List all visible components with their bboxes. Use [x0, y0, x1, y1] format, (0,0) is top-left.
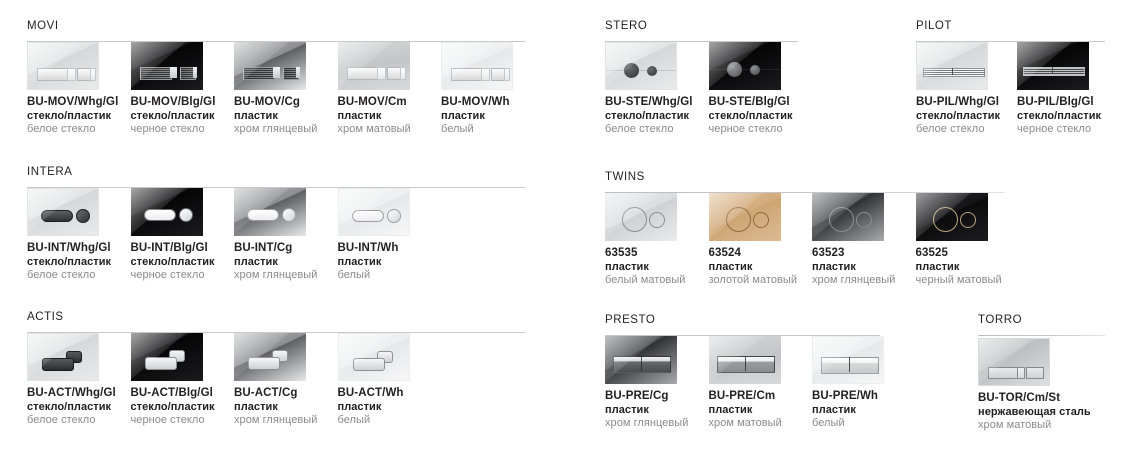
product-finish: черное стекло [131, 414, 234, 428]
product-finish: белое стекло [27, 269, 130, 283]
section-header-movi: MOVI [27, 20, 527, 42]
product-caption: BU-PRE/Cg пластик хром глянцевый [605, 390, 708, 431]
wide-key-icon [821, 357, 879, 374]
product-caption: BU-PRE/Wh пластик белый [812, 390, 915, 431]
product-code: BU-STE/Whg/Gl [605, 96, 708, 110]
key-small-icon [1026, 367, 1044, 379]
key-large-icon [145, 357, 177, 370]
product-material: пластик [605, 404, 708, 418]
product-item[interactable]: BU-PIL/Whg/Gl стекло/пластик белое стекл… [916, 42, 1019, 137]
product-finish: черное стекло [1017, 123, 1120, 137]
round-key-icon [282, 208, 296, 222]
product-finish: белое стекло [916, 123, 1019, 137]
gloss-overlay-icon [338, 42, 410, 90]
product-material: пластик [234, 110, 337, 124]
product-finish: белый [812, 417, 915, 431]
product-finish: хром матовый [338, 123, 441, 137]
pill-key-icon [144, 209, 176, 221]
gloss-overlay-icon [339, 334, 409, 380]
product-material: стекло/пластик [131, 110, 234, 124]
product-finish: хром матовый [709, 417, 812, 431]
key-split-icon [641, 356, 642, 371]
product-thumbnail-twins-gold-matt[interactable] [709, 193, 781, 241]
gloss-overlay-icon [709, 42, 781, 90]
product-item[interactable]: BU-TOR/Cm/St нержавеющая сталь хром мато… [978, 338, 1106, 433]
ring-small-icon [649, 212, 665, 228]
product-material: пластик [338, 256, 441, 270]
key-divider2-icon [400, 67, 406, 80]
product-thumbnail-pilot-white-glass[interactable] [916, 42, 988, 90]
wide-key-icon [717, 356, 775, 373]
key-divider-icon [481, 68, 490, 81]
section-header-presto: PRESTO [605, 314, 882, 336]
gloss-overlay-icon [234, 42, 306, 90]
product-finish: черное стекло [709, 123, 812, 137]
key-split-icon [745, 356, 746, 371]
product-finish: белый матовый [605, 274, 708, 288]
section-stero: STERO BU-STE/Whg/Gl стекло/пластик белое… [605, 20, 800, 42]
gloss-overlay-icon [442, 43, 512, 89]
product-material: пластик [605, 261, 708, 275]
product-finish: хром глянцевый [234, 123, 337, 137]
product-code: BU-ACT/Whg/Gl [27, 387, 130, 401]
section-header-stero: STERO [605, 20, 800, 42]
round-key-icon [387, 209, 401, 223]
product-caption: BU-ACT/Wh пластик белый [338, 387, 441, 428]
key-divider2-icon [193, 67, 197, 78]
product-item[interactable]: BU-STE/Blg/Gl стекло/пластик черное стек… [709, 42, 812, 137]
key-divider-icon [1017, 367, 1025, 379]
product-thumbnail-stero-black-glass[interactable] [709, 42, 781, 90]
product-item[interactable]: BU-PRE/Cm пластик хром матовый [709, 336, 812, 431]
product-code: BU-MOV/Whg/Gl [27, 96, 130, 110]
product-caption: BU-MOV/Cm пластик хром матовый [338, 96, 441, 137]
section-title-intera: INTERA [27, 166, 527, 179]
product-thumbnail-movi-white-glass[interactable] [27, 42, 99, 90]
product-code: BU-INT/Wh [338, 242, 441, 256]
product-caption: BU-STE/Whg/Gl стекло/пластик белое стекл… [605, 96, 708, 137]
product-code: BU-ACT/Cg [234, 387, 337, 401]
product-material: пластик [338, 401, 441, 415]
section-movi: MOVI BU-MOV/Whg/Gl стекло/пластик белое … [27, 20, 527, 42]
key-split-icon [849, 357, 850, 372]
section-title-torro: TORRO [978, 314, 1106, 327]
product-item[interactable]: BU-PRE/Cg пластик хром глянцевый [605, 336, 708, 431]
product-material: пластик [234, 256, 337, 270]
product-caption: BU-INT/Wh пластик белый [338, 242, 441, 283]
product-caption: BU-MOV/Cg пластик хром глянцевый [234, 96, 337, 137]
section-actis: ACTIS BU-ACT/Whg/Gl стекло/пластик белое… [27, 311, 527, 333]
product-material: пластик [812, 404, 915, 418]
product-caption: BU-TOR/Cm/St нержавеющая сталь хром мато… [978, 392, 1106, 433]
key-divider-icon [273, 67, 280, 78]
product-finish: хром глянцевый [812, 274, 915, 288]
ribbed-bar-icon [923, 68, 985, 77]
key-split-icon [952, 68, 953, 75]
section-rule-torro [978, 335, 1105, 336]
product-caption: BU-PRE/Cm пластик хром матовый [709, 390, 812, 431]
round-key-icon [76, 209, 90, 223]
product-thumbnail-twins-chrome-gloss[interactable] [812, 193, 884, 241]
product-finish: белое стекло [605, 123, 708, 137]
product-code: BU-PRE/Cm [709, 390, 812, 404]
product-code: BU-TOR/Cm/St [978, 392, 1106, 406]
round-key-large-icon [727, 62, 742, 77]
product-item[interactable]: BU-ACT/Whg/Gl стекло/пластик белое стекл… [27, 333, 130, 428]
product-caption: BU-INT/Whg/Gl стекло/пластик белое стекл… [27, 242, 130, 283]
key-divider-icon [170, 67, 177, 78]
product-thumbnail-actis-white[interactable] [338, 333, 410, 381]
product-material: пластик [916, 261, 1019, 275]
key-large-icon [243, 67, 275, 80]
key-large-icon [353, 358, 385, 371]
product-material: нержавеющая сталь [978, 406, 1106, 420]
product-finish: хром глянцевый [605, 417, 708, 431]
product-material: стекло/пластик [27, 401, 130, 415]
key-divider2-icon [504, 68, 510, 81]
product-caption: BU-MOV/Wh пластик белый [441, 96, 544, 137]
product-code: 63525 [916, 247, 1019, 261]
product-caption: BU-STE/Blg/Gl стекло/пластик черное стек… [709, 96, 812, 137]
ring-small-icon [856, 212, 872, 228]
product-code: BU-MOV/Blg/Gl [131, 96, 234, 110]
product-item[interactable]: BU-INT/Blg/Gl стекло/пластик черное стек… [131, 188, 234, 283]
wide-key-icon [613, 356, 671, 373]
product-item[interactable]: BU-PIL/Blg/Gl стекло/пластик черное стек… [1017, 42, 1120, 137]
product-item[interactable]: 63523 пластик хром глянцевый [812, 193, 915, 288]
product-code: BU-INT/Whg/Gl [27, 242, 130, 256]
product-material: пластик [234, 401, 337, 415]
product-thumbnail-intera-white-glass[interactable] [27, 188, 99, 236]
product-code: BU-INT/Cg [234, 242, 337, 256]
product-caption: 63525 пластик черный матовый [916, 247, 1019, 288]
product-caption: BU-MOV/Whg/Gl стекло/пластик белое стекл… [27, 96, 130, 137]
product-caption: 63523 пластик хром глянцевый [812, 247, 915, 288]
key-large-icon [248, 357, 280, 370]
product-finish: черное стекло [131, 123, 234, 137]
product-finish: белое стекло [27, 414, 130, 428]
product-item[interactable]: BU-STE/Whg/Gl стекло/пластик белое стекл… [605, 42, 708, 137]
product-code: BU-PRE/Cg [605, 390, 708, 404]
product-caption: BU-INT/Cg пластик хром глянцевый [234, 242, 337, 283]
product-thumbnail-actis-black-glass[interactable] [131, 333, 203, 381]
product-code: 63524 [709, 247, 812, 261]
product-material: пластик [812, 261, 915, 275]
section-title-stero: STERO [605, 20, 800, 33]
product-code: BU-MOV/Cg [234, 96, 337, 110]
seam-line-icon [709, 69, 781, 70]
key-large-icon [451, 68, 483, 81]
ribbed-bar-icon [1023, 67, 1085, 76]
product-material: пластик [441, 110, 544, 124]
product-thumbnail-intera-white[interactable] [338, 188, 410, 236]
key-divider-icon [67, 68, 76, 81]
product-caption: BU-ACT/Whg/Gl стекло/пластик белое стекл… [27, 387, 130, 428]
section-title-twins: TWINS [605, 171, 1007, 184]
product-item[interactable]: BU-INT/Cg пластик хром глянцевый [234, 188, 337, 283]
section-title-actis: ACTIS [27, 311, 527, 324]
ring-large-icon [622, 207, 647, 232]
gloss-overlay-icon [1017, 42, 1089, 90]
product-thumbnail-movi-chrome-matt[interactable] [338, 42, 410, 90]
product-material: стекло/пластик [27, 110, 130, 124]
section-header-pilot: PILOT [916, 20, 1106, 42]
product-code: BU-PRE/Wh [812, 390, 915, 404]
ring-large-icon [829, 207, 854, 232]
product-caption: BU-PIL/Blg/Gl стекло/пластик черное стек… [1017, 96, 1120, 137]
product-finish: белое стекло [27, 123, 130, 137]
product-code: BU-ACT/Blg/Gl [131, 387, 234, 401]
product-caption: BU-ACT/Cg пластик хром глянцевый [234, 387, 337, 428]
product-caption: BU-PIL/Whg/Gl стекло/пластик белое стекл… [916, 96, 1019, 137]
section-pilot: PILOT BU-PIL/Whg/Gl стекло/пластик белое… [916, 20, 1106, 42]
product-thumbnail-torro-stainless[interactable] [978, 338, 1050, 386]
product-finish: белый [441, 123, 544, 137]
product-caption: BU-INT/Blg/Gl стекло/пластик черное стек… [131, 242, 234, 283]
section-presto: PRESTO BU-PRE/Cg пластик хром глянцевый [605, 314, 882, 336]
product-thumbnail-presto-white[interactable] [812, 336, 884, 384]
product-code: BU-PIL/Whg/Gl [916, 96, 1019, 110]
round-key-small-icon [647, 66, 657, 76]
product-finish: черный матовый [916, 274, 1019, 288]
product-item[interactable]: BU-MOV/Whg/Gl стекло/пластик белое стекл… [27, 42, 130, 137]
product-finish: черное стекло [131, 269, 234, 283]
product-code: BU-STE/Blg/Gl [709, 96, 812, 110]
product-item[interactable]: BU-ACT/Blg/Gl стекло/пластик черное стек… [131, 333, 234, 428]
section-header-twins: TWINS [605, 171, 1007, 193]
product-thumbnail-intera-chrome-gloss[interactable] [234, 188, 306, 236]
product-thumbnail-movi-white[interactable] [441, 42, 513, 90]
product-code: BU-INT/Blg/Gl [131, 242, 234, 256]
round-key-large-icon [624, 63, 639, 78]
product-finish: хром глянцевый [234, 269, 337, 283]
product-material: стекло/пластик [605, 110, 708, 124]
product-thumbnail-pilot-black-glass[interactable] [1017, 42, 1089, 90]
product-thumbnail-presto-chrome-matt[interactable] [709, 336, 781, 384]
product-material: стекло/пластик [1017, 110, 1120, 124]
product-finish: хром глянцевый [234, 414, 337, 428]
product-thumbnail-movi-black-glass[interactable] [131, 42, 203, 90]
ring-large-icon [933, 207, 958, 232]
section-header-actis: ACTIS [27, 311, 527, 333]
product-material: стекло/пластик [27, 256, 130, 270]
product-code: 63523 [812, 247, 915, 261]
section-header-intera: INTERA [27, 166, 527, 188]
product-finish: золотой матовый [709, 274, 812, 288]
pill-key-icon [352, 210, 384, 222]
gloss-overlay-icon [606, 43, 676, 89]
product-thumbnail-actis-white-glass[interactable] [27, 333, 99, 381]
round-key-small-icon [750, 65, 760, 75]
product-item[interactable]: 63524 пластик золотой матовый [709, 193, 812, 288]
product-thumbnail-presto-chrome-gloss[interactable] [605, 336, 677, 384]
ring-small-icon [960, 212, 976, 228]
product-code: BU-MOV/Cm [338, 96, 441, 110]
key-divider2-icon [296, 67, 300, 78]
product-thumbnail-stero-white-glass[interactable] [605, 42, 677, 90]
key-split-icon [1052, 67, 1053, 74]
product-material: пластик [338, 110, 441, 124]
gloss-overlay-icon [28, 43, 98, 89]
section-header-torro: TORRO [978, 314, 1106, 336]
section-title-pilot: PILOT [916, 20, 1106, 33]
product-item[interactable]: BU-INT/Whg/Gl стекло/пластик белое стекл… [27, 188, 130, 283]
product-catalog-sheet: MOVI BU-MOV/Whg/Gl стекло/пластик белое … [0, 0, 1129, 465]
ring-large-icon [726, 207, 751, 232]
product-finish: белый [338, 269, 441, 283]
product-code: BU-PIL/Blg/Gl [1017, 96, 1120, 110]
pill-key-icon [247, 209, 279, 221]
product-thumbnail-actis-chrome-gloss[interactable] [234, 333, 306, 381]
product-item[interactable]: BU-PRE/Wh пластик белый [812, 336, 915, 431]
section-twins: TWINS 63535 пластик белый матовый [605, 171, 1007, 193]
product-material: стекло/пластик [709, 110, 812, 124]
product-item[interactable]: BU-MOV/Wh пластик белый [441, 42, 544, 137]
product-item[interactable]: BU-MOV/Cg пластик хром глянцевый [234, 42, 337, 137]
gloss-overlay-icon [28, 334, 98, 380]
product-code: 63535 [605, 247, 708, 261]
product-caption: 63524 пластик золотой матовый [709, 247, 812, 288]
section-intera: INTERA BU-INT/Whg/Gl стекло/пластик бело… [27, 166, 527, 188]
section-title-movi: MOVI [27, 20, 527, 33]
key-large-icon [347, 67, 379, 80]
product-item[interactable]: BU-MOV/Blg/Gl стекло/пластик черное стек… [131, 42, 234, 137]
product-finish: белый [338, 414, 441, 428]
key-large-icon [140, 67, 172, 80]
product-material: стекло/пластик [131, 401, 234, 415]
key-divider-icon [377, 67, 386, 80]
product-item[interactable]: BU-MOV/Cm пластик хром матовый [338, 42, 441, 137]
round-key-icon [179, 208, 193, 222]
key-large-icon [42, 358, 74, 371]
product-item[interactable]: BU-INT/Wh пластик белый [338, 188, 441, 283]
product-code: BU-MOV/Wh [441, 96, 544, 110]
ring-small-icon [753, 212, 769, 228]
product-caption: 63535 пластик белый матовый [605, 247, 708, 288]
product-item[interactable]: BU-ACT/Wh пластик белый [338, 333, 441, 428]
product-caption: BU-MOV/Blg/Gl стекло/пластик черное стек… [131, 96, 234, 137]
product-thumbnail-intera-black-glass[interactable] [131, 188, 203, 236]
product-material: пластик [709, 261, 812, 275]
gloss-overlay-icon [131, 42, 203, 90]
gloss-overlay-icon [917, 43, 987, 89]
section-title-presto: PRESTO [605, 314, 882, 327]
product-code: BU-ACT/Wh [338, 387, 441, 401]
product-thumbnail-movi-chrome-gloss[interactable] [234, 42, 306, 90]
product-material: стекло/пластик [131, 256, 234, 270]
product-thumbnail-twins-black-matt[interactable] [916, 193, 988, 241]
product-item[interactable]: 63535 пластик белый матовый [605, 193, 708, 288]
product-item[interactable]: 63525 пластик черный матовый [916, 193, 1019, 288]
section-torro: TORRO BU-TOR/Cm/St нержавеющая сталь хро… [978, 314, 1106, 336]
product-thumbnail-twins-white-matt[interactable] [605, 193, 677, 241]
product-caption: BU-ACT/Blg/Gl стекло/пластик черное стек… [131, 387, 234, 428]
product-finish: хром матовый [978, 419, 1106, 433]
product-material: стекло/пластик [916, 110, 1019, 124]
product-material: пластик [709, 404, 812, 418]
key-large-icon [37, 68, 69, 81]
product-item[interactable]: BU-ACT/Cg пластик хром глянцевый [234, 333, 337, 428]
seam-line-icon [606, 70, 677, 71]
pill-key-icon [41, 210, 73, 222]
key-divider2-icon [90, 68, 96, 81]
